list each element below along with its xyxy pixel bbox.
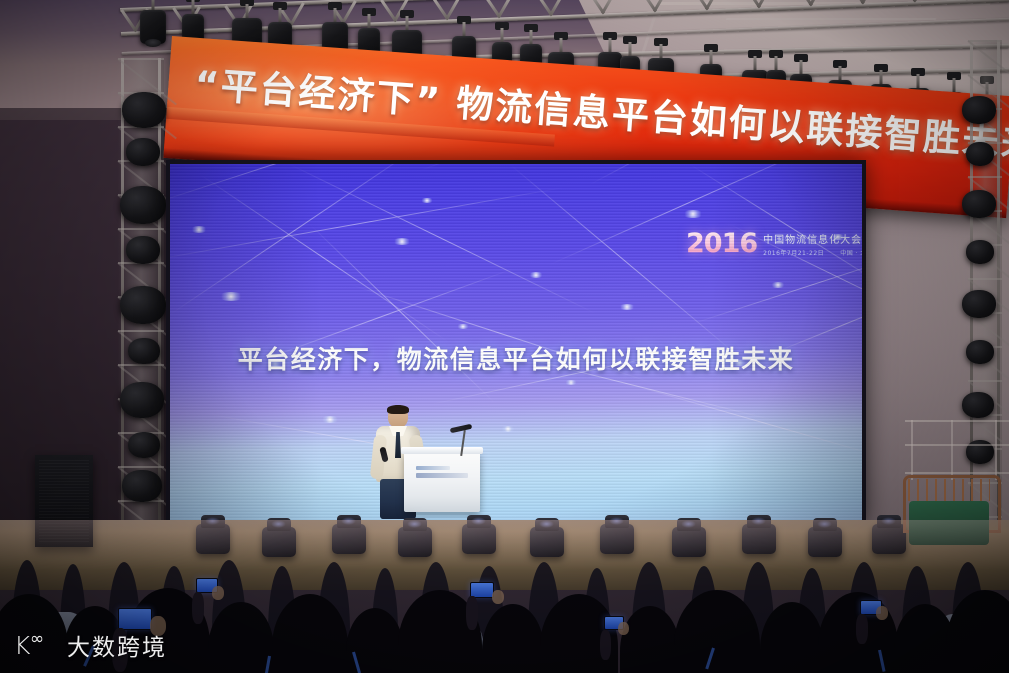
phone-screen	[471, 583, 493, 597]
screen-network-line	[290, 164, 596, 314]
truss-diagonal	[341, 0, 357, 24]
par-can-fixture	[122, 470, 162, 502]
par-can-fixture	[962, 392, 994, 418]
par-can-fixture	[966, 340, 994, 364]
par-can-fixture	[128, 432, 160, 458]
par-can-fixture	[126, 138, 160, 166]
truss-diagonal	[497, 0, 513, 18]
par-can-fixture	[962, 96, 996, 124]
audience-arm	[856, 614, 868, 644]
screen-network-node	[528, 272, 544, 278]
audience-member-foreground	[620, 606, 680, 673]
conference-logo-name: 中国物流信息化大会	[763, 231, 862, 246]
audience-phone	[118, 608, 152, 630]
par-can-fixture	[966, 240, 994, 264]
tower-cross-brace	[968, 176, 1002, 178]
screen-network-node	[420, 198, 434, 203]
podium-logo-line-1	[416, 466, 450, 470]
tower-cross-brace	[968, 380, 1002, 382]
screen-network-node	[320, 416, 340, 423]
par-can-fixture	[962, 290, 996, 318]
railing-post-b	[951, 420, 953, 480]
par-can-fixture	[962, 190, 996, 218]
tower-cross-brace	[968, 40, 1002, 42]
railing-bar-bottom	[905, 472, 1009, 474]
truss-diagonal	[549, 0, 565, 16]
audience-arm	[192, 592, 204, 624]
par-can-fixture	[120, 186, 166, 224]
tower-cross-brace	[118, 228, 164, 230]
audience-arm	[600, 630, 611, 660]
screen-network-line	[200, 174, 449, 343]
screen-network-line	[510, 164, 740, 358]
podium-top-surface	[401, 447, 483, 454]
railing-bar-mid	[905, 444, 1009, 446]
podium-logo-line-2	[416, 473, 468, 478]
par-can-fixture	[126, 236, 160, 264]
screen-network-node	[500, 426, 516, 432]
led-screen-frame: 2016 中国物流信息化大会 2016年7月21-22日 中国 · 北京 平台经…	[166, 160, 866, 525]
tower-cross-brace	[968, 278, 1002, 280]
conference-logo-meta: 2016年7月21-22日 中国 · 北京	[763, 248, 862, 257]
railing-post-a	[911, 420, 913, 480]
podium	[404, 452, 480, 512]
tower-cross-brace	[118, 364, 164, 366]
watermark-infinity-icon: ∞	[30, 631, 42, 648]
tower-cross-brace	[968, 74, 1002, 76]
par-can-fixture	[122, 92, 166, 128]
watermark: K ∞ 大数跨境	[14, 628, 167, 662]
par-can-fixture	[966, 142, 994, 166]
railing-bar-top	[905, 420, 1009, 422]
tower-cross-brace	[118, 58, 164, 60]
stage-light-fixture	[140, 10, 166, 44]
audience-hand	[212, 586, 224, 600]
audience-hand	[876, 606, 888, 620]
screen-network-node	[190, 226, 208, 233]
watermark-text: 大数跨境	[67, 628, 167, 662]
conference-logo-year: 2016	[686, 228, 757, 259]
par-can-fixture	[120, 286, 166, 324]
tower-cross-brace	[118, 330, 164, 332]
screen-network-node	[618, 304, 636, 310]
screen-network-node	[770, 282, 786, 288]
screen-network-line	[630, 384, 862, 462]
photo-scene: “平台经济下” 物流信息平台如何以联接智胜未来 2016 中国物流信息化大会 2…	[0, 0, 1009, 673]
phone-screen	[119, 609, 151, 629]
audience-hand	[492, 590, 504, 604]
side-railing	[905, 420, 1009, 480]
watermark-letter: K	[14, 633, 30, 658]
watermark-logo-icon: K ∞	[14, 632, 58, 658]
railing-post-c	[995, 420, 997, 480]
presenter-hair	[387, 405, 409, 414]
podium-logo	[416, 466, 470, 488]
screen-network-line	[170, 187, 564, 261]
cart-bars	[908, 479, 990, 501]
screen-network-node	[456, 324, 470, 329]
screen-network-node	[392, 238, 412, 245]
audience-backlight	[0, 520, 1009, 570]
light-lens	[145, 39, 161, 47]
conference-logo-text: 中国物流信息化大会 2016年7月21-22日 中国 · 北京	[763, 231, 862, 257]
screen-network-node	[682, 210, 704, 218]
conference-logo: 2016 中国物流信息化大会 2016年7月21-22日 中国 · 北京	[686, 228, 862, 259]
conference-logo-city: 中国 · 北京	[840, 248, 862, 257]
par-can-fixture	[120, 382, 164, 418]
audience-arm	[466, 596, 478, 630]
conference-logo-date: 2016年7月21-22日	[763, 248, 824, 257]
screen-network-node	[218, 292, 244, 301]
audience-hand	[618, 622, 629, 635]
led-screen: 2016 中国物流信息化大会 2016年7月21-22日 中国 · 北京 平台经…	[170, 164, 862, 520]
par-can-fixture	[128, 338, 160, 364]
tower-cross-brace	[118, 466, 164, 468]
slide-title: 平台经济下，物流信息平台如何以联接智胜未来	[170, 340, 862, 376]
screen-network-line	[420, 164, 730, 171]
screen-network-node	[564, 380, 578, 385]
